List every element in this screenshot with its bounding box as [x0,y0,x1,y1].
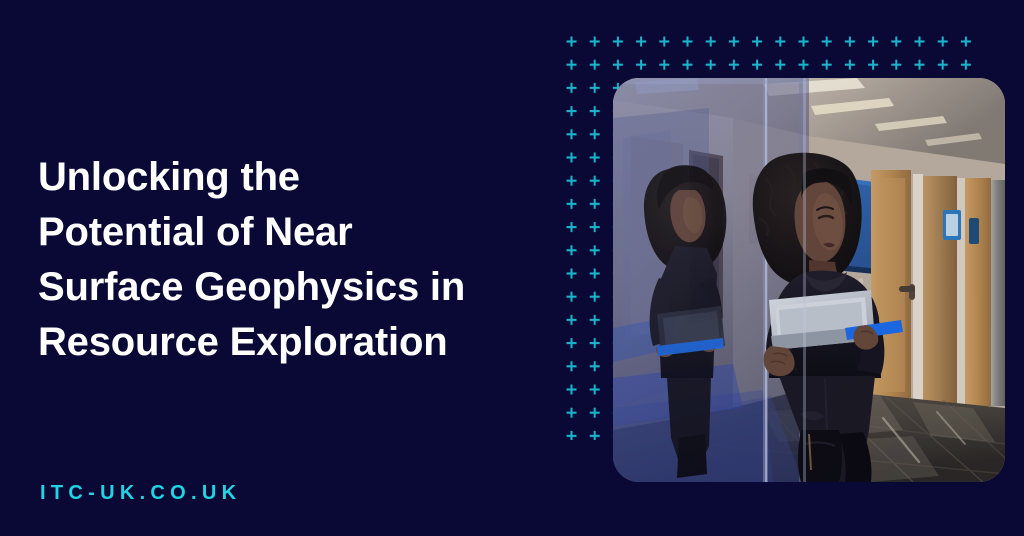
headline-block: Unlocking the Potential of Near Surface … [38,150,538,370]
hero-photo [613,78,1005,482]
page-title: Unlocking the Potential of Near Surface … [38,150,538,370]
site-url[interactable]: ITC-UK.CO.UK [40,482,241,505]
blog-banner: Unlocking the Potential of Near Surface … [0,0,1024,536]
